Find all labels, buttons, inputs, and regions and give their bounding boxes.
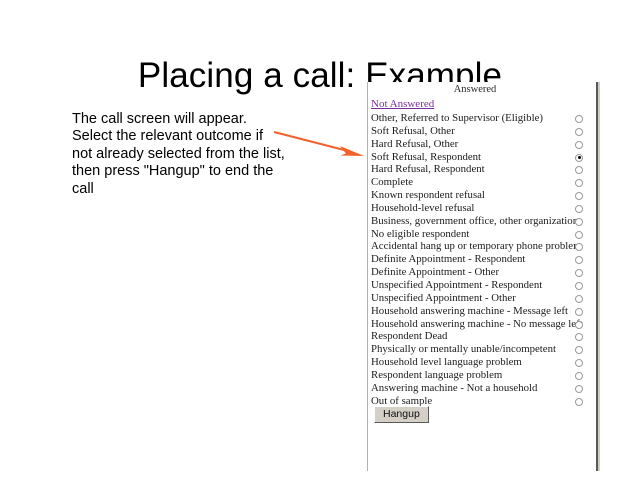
hangup-button[interactable]: Hangup: [374, 406, 429, 423]
outcome-label: Soft Refusal, Other: [371, 125, 455, 138]
outcome-radio-button[interactable]: [575, 243, 583, 251]
outcome-radio-button[interactable]: [575, 385, 583, 393]
outcome-row[interactable]: Hard Refusal, Respondent: [368, 163, 596, 176]
outcome-label: Household-level refusal: [371, 202, 474, 215]
outcome-label: Household answering machine - No message…: [371, 318, 583, 331]
outcome-row[interactable]: Accidental hang up or temporary phone pr…: [368, 240, 596, 253]
outcome-radio-button[interactable]: [575, 398, 583, 406]
outcome-radio-button[interactable]: [575, 205, 583, 213]
outcome-row[interactable]: Household level language problem: [368, 356, 596, 369]
answered-column-header: Answered: [368, 84, 582, 95]
outcome-row[interactable]: Household-level refusal: [368, 202, 596, 215]
outcome-radio-button[interactable]: [575, 372, 583, 380]
outcome-row[interactable]: Complete: [368, 176, 596, 189]
outcome-label: Answering machine - Not a household: [371, 382, 537, 395]
outcome-label: Definite Appointment - Other: [371, 266, 499, 279]
outcome-label: Known respondent refusal: [371, 189, 485, 202]
outcome-row[interactable]: Business, government office, other organ…: [368, 215, 596, 228]
outcome-radio-button[interactable]: [575, 359, 583, 367]
outcome-label: Household level language problem: [371, 356, 522, 369]
outcome-row[interactable]: Unspecified Appointment - Other: [368, 292, 596, 305]
call-screen-screenshot[interactable]: Answered Not Answered Other, Referred to…: [367, 82, 598, 471]
outcome-row[interactable]: No eligible respondent: [368, 228, 596, 241]
outcome-label: Business, government office, other organ…: [371, 215, 578, 228]
instruction-text: The call screen will appear. Select the …: [72, 111, 287, 198]
outcome-label: Physically or mentally unable/incompeten…: [371, 343, 556, 356]
outcome-label: Unspecified Appointment - Other: [371, 292, 516, 305]
outcome-radio-button[interactable]: [575, 179, 583, 187]
outcome-row[interactable]: Household answering machine - No message…: [368, 318, 596, 331]
outcome-radio-button[interactable]: [575, 308, 583, 316]
outcome-row[interactable]: Answering machine - Not a household: [368, 382, 596, 395]
call-outcome-list: Other, Referred to Supervisor (Eligible)…: [368, 112, 596, 407]
outcome-radio-button[interactable]: [575, 192, 583, 200]
outcome-radio-button[interactable]: [575, 166, 583, 174]
outcome-label: Soft Refusal, Respondent: [371, 151, 481, 164]
outcome-row[interactable]: Physically or mentally unable/incompeten…: [368, 343, 596, 356]
outcome-row[interactable]: Respondent Dead: [368, 330, 596, 343]
outcome-radio-button[interactable]: [575, 346, 583, 354]
outcome-radio-button[interactable]: [575, 333, 583, 341]
outcome-label: Hard Refusal, Other: [371, 138, 458, 151]
outcome-radio-button[interactable]: [575, 295, 583, 303]
outcome-label: Respondent Dead: [371, 330, 447, 343]
outcome-row[interactable]: Household answering machine - Message le…: [368, 305, 596, 318]
outcome-row[interactable]: Other, Referred to Supervisor (Eligible): [368, 112, 596, 125]
outcome-label: Respondent language problem: [371, 369, 502, 382]
outcome-radio-button[interactable]: [575, 256, 583, 264]
outcome-row[interactable]: Soft Refusal, Respondent: [368, 151, 596, 164]
outcome-radio-button[interactable]: [575, 128, 583, 136]
outcome-row[interactable]: Known respondent refusal: [368, 189, 596, 202]
outcome-label: Accidental hang up or temporary phone pr…: [371, 240, 581, 253]
outcome-radio-button[interactable]: [575, 321, 583, 329]
outcome-radio-button[interactable]: [575, 154, 583, 162]
outcome-label: Household answering machine - Message le…: [371, 305, 568, 318]
outcome-label: Complete: [371, 176, 413, 189]
outcome-row[interactable]: Soft Refusal, Other: [368, 125, 596, 138]
outcome-radio-button[interactable]: [575, 282, 583, 290]
outcome-radio-button[interactable]: [575, 115, 583, 123]
outcome-row[interactable]: Definite Appointment - Other: [368, 266, 596, 279]
outcome-label: No eligible respondent: [371, 228, 469, 241]
outcome-row[interactable]: Hard Refusal, Other: [368, 138, 596, 151]
outcome-radio-button[interactable]: [575, 218, 583, 226]
outcome-row[interactable]: Respondent language problem: [368, 369, 596, 382]
not-answered-link[interactable]: Not Answered: [371, 98, 434, 110]
outcome-row[interactable]: Definite Appointment - Respondent: [368, 253, 596, 266]
outcome-row[interactable]: Unspecified Appointment - Respondent: [368, 279, 596, 292]
outcome-label: Unspecified Appointment - Respondent: [371, 279, 542, 292]
outcome-label: Definite Appointment - Respondent: [371, 253, 525, 266]
outcome-label: Other, Referred to Supervisor (Eligible): [371, 112, 543, 125]
outcome-radio-button[interactable]: [575, 231, 583, 239]
outcome-label: Hard Refusal, Respondent: [371, 163, 485, 176]
outcome-radio-button[interactable]: [575, 269, 583, 277]
outcome-radio-button[interactable]: [575, 141, 583, 149]
